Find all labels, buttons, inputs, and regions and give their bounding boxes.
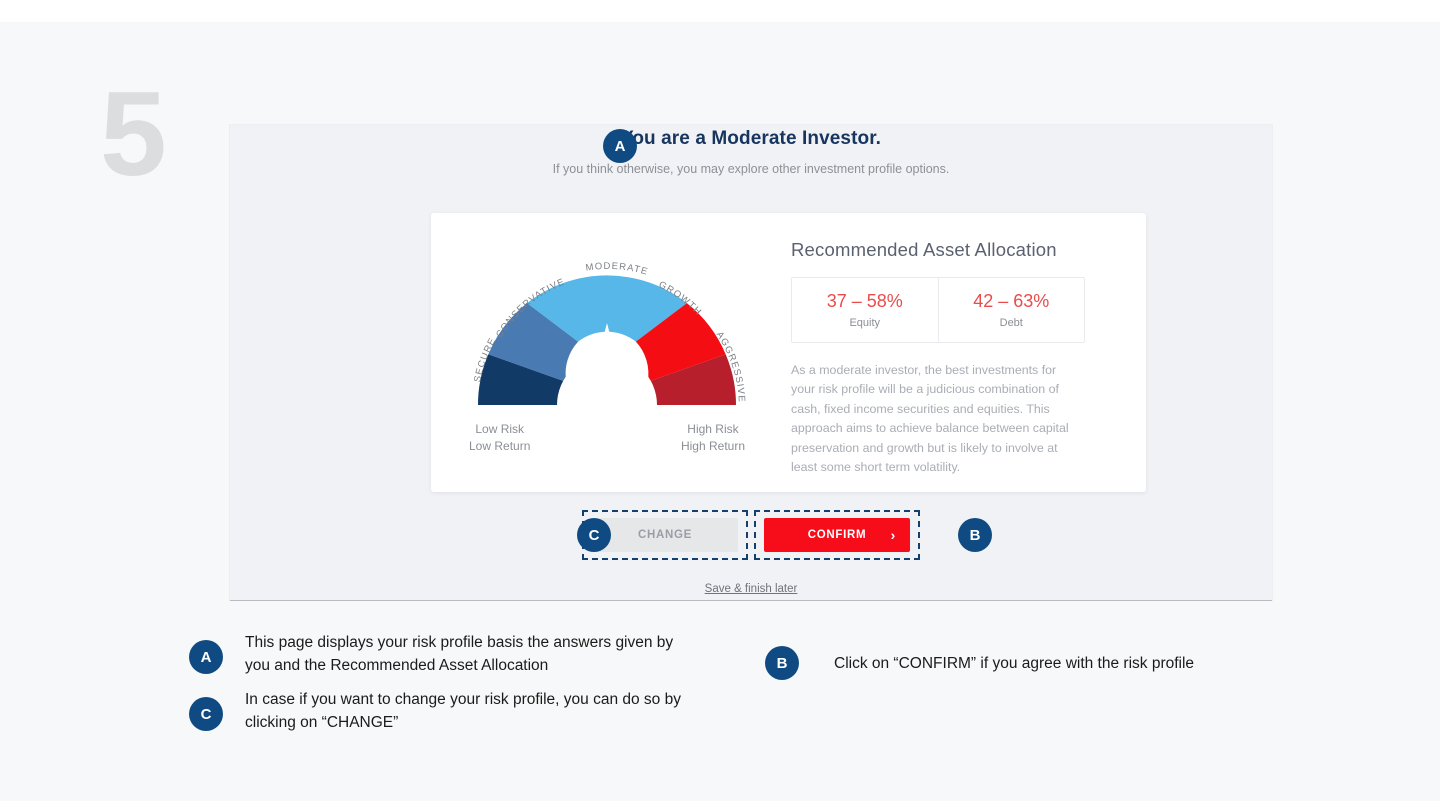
allocation-section: Recommended Asset Allocation 37 – 58% Eq…: [783, 213, 1146, 492]
callout-c: C In case if you want to change your ris…: [189, 688, 689, 734]
gauge-low-risk-label: Low Risk Low Return: [469, 421, 530, 455]
screenshot-bottom-divider: [230, 600, 1272, 601]
debt-label: Debt: [943, 317, 1081, 329]
callout-badge-c: C: [189, 697, 223, 731]
annotation-box-confirm: CONFIRM ›: [754, 510, 920, 560]
gauge-high-risk-label: High Risk High Return: [681, 421, 745, 455]
confirm-button[interactable]: CONFIRM ›: [764, 518, 910, 552]
callout-badge-b: B: [765, 646, 799, 680]
annotation-badge-a-screenshot: A: [603, 129, 637, 163]
allocation-cell-equity: 37 – 58% Equity: [792, 278, 938, 342]
low-risk-line2: Low Return: [469, 438, 530, 455]
equity-range-value: 37 – 58%: [796, 291, 934, 312]
annotation-badge-b-screenshot: B: [958, 518, 992, 552]
step-number: 5: [100, 74, 165, 194]
allocation-title: Recommended Asset Allocation: [791, 239, 1102, 261]
slide-canvas: 5 You are a Moderate Investor. If you th…: [0, 22, 1440, 801]
high-risk-line1: High Risk: [681, 421, 745, 438]
screenshot-header: You are a Moderate Investor. If you thin…: [230, 125, 1272, 176]
action-buttons-row: CHANGE CONFIRM ›: [230, 510, 1272, 560]
gauge-label-moderate: MODERATE: [585, 261, 650, 278]
low-risk-line1: Low Risk: [469, 421, 530, 438]
confirm-button-label: CONFIRM: [808, 529, 867, 541]
gauge-baseline-mask: [471, 405, 743, 409]
allocation-description: As a moderate investor, the best investm…: [791, 361, 1083, 477]
high-risk-line2: High Return: [681, 438, 745, 455]
risk-gauge: SECURE CONSERVATIVE MODERATE GROWTH AGGR: [431, 227, 783, 427]
callout-a: A This page displays your risk profile b…: [189, 631, 689, 677]
change-button[interactable]: CHANGE: [592, 518, 738, 552]
chevron-right-icon: ›: [891, 527, 896, 543]
app-screenshot-panel: You are a Moderate Investor. If you thin…: [230, 125, 1272, 600]
page-title: You are a Moderate Investor.: [230, 128, 1272, 150]
callout-text-c: In case if you want to change your risk …: [245, 688, 689, 734]
callout-badge-a: A: [189, 640, 223, 674]
callout-text-a: This page displays your risk profile bas…: [245, 631, 689, 677]
gauge-risk-labels: Low Risk Low Return High Risk High Retur…: [431, 421, 783, 455]
gauge-section: SECURE CONSERVATIVE MODERATE GROWTH AGGR: [431, 213, 783, 492]
equity-label: Equity: [796, 317, 934, 329]
allocation-cell-debt: 42 – 63% Debt: [938, 278, 1085, 342]
risk-gauge-svg: SECURE CONSERVATIVE MODERATE GROWTH AGGR: [431, 227, 783, 427]
debt-range-value: 42 – 63%: [943, 291, 1081, 312]
page-subtitle: If you think otherwise, you may explore …: [230, 162, 1272, 176]
callout-b: B Click on “CONFIRM” if you agree with t…: [765, 646, 1285, 680]
callout-text-b: Click on “CONFIRM” if you agree with the…: [834, 652, 1194, 675]
top-white-strip: [0, 0, 1440, 22]
save-and-finish-later-link[interactable]: Save & finish later: [230, 583, 1272, 595]
annotation-badge-c-screenshot: C: [577, 518, 611, 552]
gauge-center-mask: [557, 355, 657, 427]
allocation-table: 37 – 58% Equity 42 – 63% Debt: [791, 277, 1085, 343]
result-card: SECURE CONSERVATIVE MODERATE GROWTH AGGR: [431, 213, 1146, 492]
